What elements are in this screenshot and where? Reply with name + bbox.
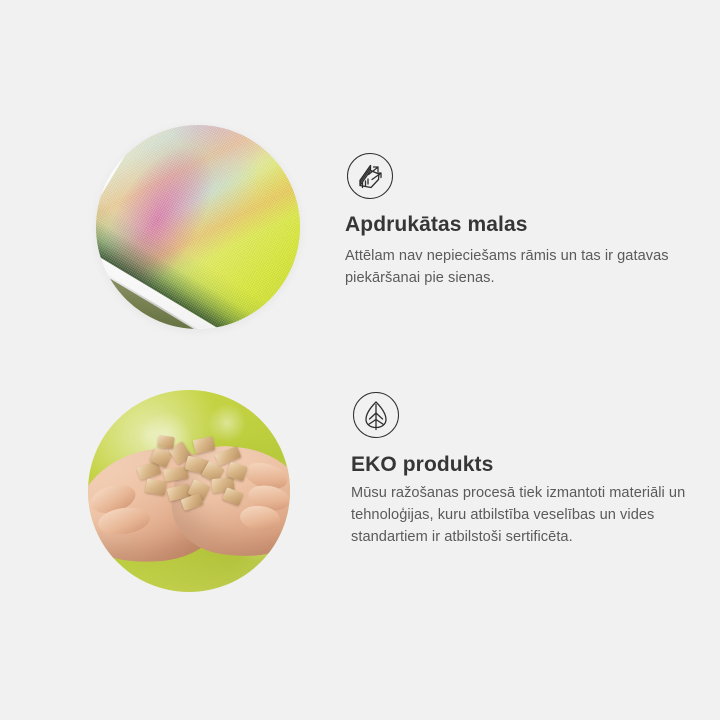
hands-holding-wood-chips-photo <box>88 390 290 592</box>
wood-chips-pile <box>132 434 254 514</box>
feature-description-eco-product: Mūsu ražošanas procesā tiek izmantoti ma… <box>351 482 686 548</box>
feature-title-printed-edges: Apdrukātas malas <box>345 213 528 237</box>
canvas-wrapped-edge-icon <box>347 153 393 199</box>
canvas-print-corner-photo <box>96 125 300 329</box>
feature-description-printed-edges: Attēlam nav nepieciešams rāmis un tas ir… <box>345 245 685 289</box>
product-feature-infographic: Apdrukātas malas Attēlam nav nepieciešam… <box>0 0 720 720</box>
feature-title-eco-product: EKO produkts <box>351 453 493 477</box>
leaf-icon <box>353 392 399 438</box>
